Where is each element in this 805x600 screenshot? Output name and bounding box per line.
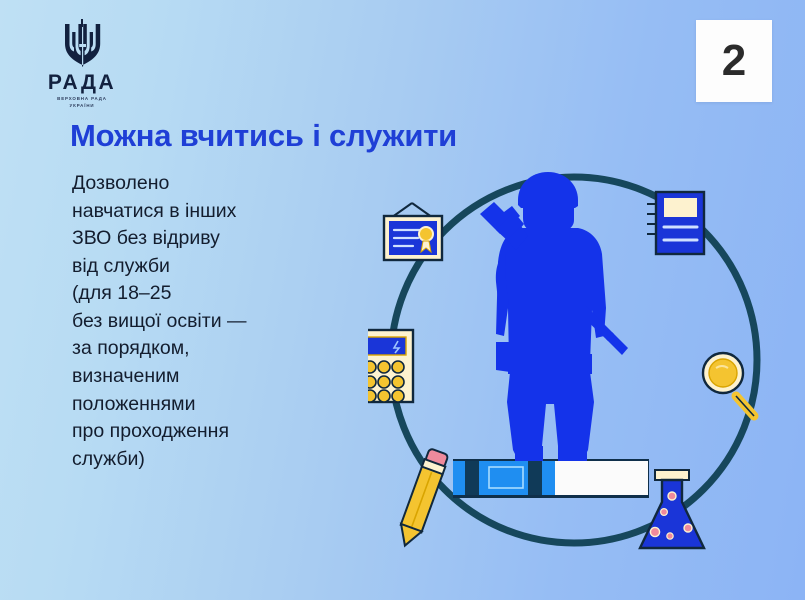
soldier-silhouette xyxy=(480,172,628,461)
certificate-frame-icon xyxy=(384,203,442,260)
rada-logo: РАДА ВЕРХОВНА РАДА УКРАЇНИ xyxy=(27,18,137,109)
logo-subtitle: ВЕРХОВНА РАДА УКРАЇНИ xyxy=(27,96,137,109)
slide-number-badge: 2 xyxy=(696,20,772,102)
notebook-icon xyxy=(647,192,704,254)
ukrainian-trident-emblem xyxy=(27,18,137,68)
magnifier-icon xyxy=(703,353,754,416)
slide-canvas: РАДА ВЕРХОВНА РАДА УКРАЇНИ 2 Можна вчити… xyxy=(0,0,805,600)
page-title: Можна вчитись і служити xyxy=(70,119,630,153)
calculator-icon xyxy=(368,330,413,402)
slide-number: 2 xyxy=(722,39,746,83)
flask-icon xyxy=(640,470,704,548)
logo-wordmark: РАДА xyxy=(27,72,137,93)
book-icon xyxy=(453,459,649,498)
illustration xyxy=(368,158,780,562)
body-text: Дозволено навчатися в інших ЗВО без відр… xyxy=(72,170,334,473)
